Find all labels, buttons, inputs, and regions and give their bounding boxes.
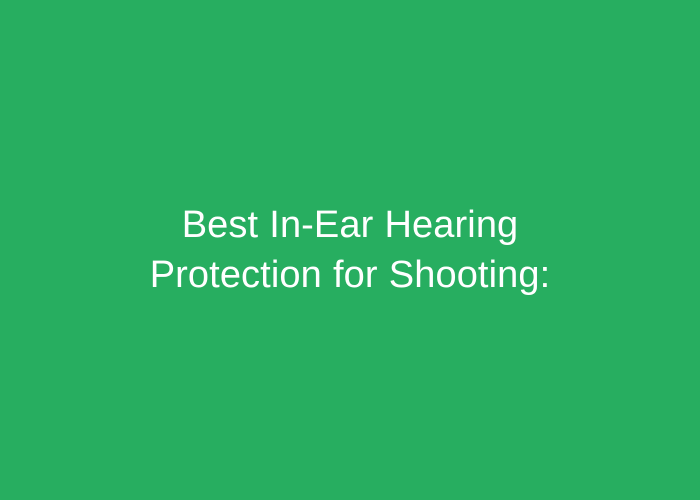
- page-title: Best In-Ear Hearing Protection for Shoot…: [100, 200, 600, 300]
- banner-canvas: Best In-Ear Hearing Protection for Shoot…: [0, 0, 700, 500]
